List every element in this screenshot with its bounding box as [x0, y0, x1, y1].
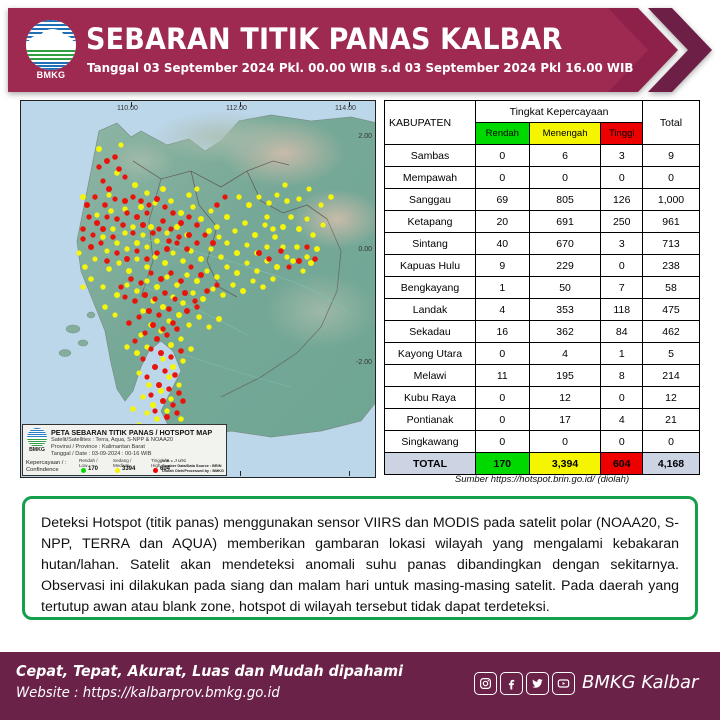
hotspot-points-layer — [21, 101, 376, 478]
cell-total-rendah: 170 — [476, 453, 530, 475]
bmkg-logo-oval-icon — [26, 20, 76, 70]
cell-tinggi: 8 — [601, 365, 643, 387]
page-title: SEBARAN TITIK PANAS KALBAR — [86, 22, 562, 56]
cell-menengah: 17 — [529, 409, 601, 431]
legend-title: PETA SEBARAN TITIK PANAS / HOTSPOT MAP — [51, 428, 212, 437]
cell-kabupaten: Kubu Raya — [385, 387, 476, 409]
legend-logo-sky — [27, 428, 47, 437]
cell-rendah: 9 — [476, 255, 530, 277]
table-header-row-1: KABUPATEN Tingkat Kepercayaan Total — [385, 101, 700, 123]
cell-tinggi: 3 — [601, 233, 643, 255]
cell-total: 462 — [643, 321, 700, 343]
legend-dot-low-icon — [81, 468, 86, 473]
table-row[interactable]: Sekadau 16 362 84 462 — [385, 321, 700, 343]
cell-kabupaten: Sekadau — [385, 321, 476, 343]
description-box: Deteksi Hotspot (titik panas) menggunaka… — [22, 496, 698, 620]
hotspot-points-high — [80, 154, 318, 420]
cell-kabupaten: Ketapang — [385, 211, 476, 233]
table-row[interactable]: Kubu Raya 0 12 0 12 — [385, 387, 700, 409]
description-text: Deteksi Hotspot (titik panas) menggunaka… — [25, 499, 695, 618]
table-row[interactable]: Bengkayang 1 50 7 58 — [385, 277, 700, 299]
table-row[interactable]: Pontianak 0 17 4 21 — [385, 409, 700, 431]
cell-tinggi: 0 — [601, 167, 643, 189]
col-header-total: Total — [643, 101, 700, 145]
cell-total: 9 — [643, 145, 700, 167]
cell-kabupaten: Bengkayang — [385, 277, 476, 299]
cell-menengah: 0 — [529, 167, 601, 189]
legend-dot-high-icon — [153, 468, 158, 473]
cell-tinggi: 118 — [601, 299, 643, 321]
hotspot-table: KABUPATEN Tingkat Kepercayaan Total Rend… — [384, 100, 700, 475]
table-row[interactable]: Sintang 40 670 3 713 — [385, 233, 700, 255]
cell-menengah: 362 — [529, 321, 601, 343]
legend-value-low: 170 — [88, 466, 98, 472]
table-row[interactable]: Kayong Utara 0 4 1 5 — [385, 343, 700, 365]
instagram-icon[interactable] — [474, 672, 497, 695]
legend-value-medium: 3394 — [122, 466, 135, 472]
table-row[interactable]: Mempawah 0 0 0 0 — [385, 167, 700, 189]
cell-menengah: 0 — [529, 431, 601, 453]
cell-rendah: 20 — [476, 211, 530, 233]
logo-cloud-icon — [29, 33, 73, 50]
col-header-confidence-group: Tingkat Kepercayaan — [476, 101, 643, 123]
cell-total: 475 — [643, 299, 700, 321]
cell-rendah: 0 — [476, 387, 530, 409]
cell-tinggi: 4 — [601, 409, 643, 431]
cell-rendah: 0 — [476, 409, 530, 431]
table-source-note: Sumber https://hotspot.brin.go.id/ (diol… — [384, 474, 700, 485]
cell-total: 12 — [643, 387, 700, 409]
bmkg-logo-label: BMKG — [22, 70, 80, 80]
cell-kabupaten: Kapuas Hulu — [385, 255, 476, 277]
cell-total-tinggi: 604 — [601, 453, 643, 475]
hotspot-table-container: KABUPATEN Tingkat Kepercayaan Total Rend… — [384, 100, 700, 475]
cell-menengah: 12 — [529, 387, 601, 409]
col-header-menengah: Menengah — [529, 123, 601, 145]
cell-rendah: 0 — [476, 431, 530, 453]
cell-total: 58 — [643, 277, 700, 299]
cell-kabupaten: Sanggau — [385, 189, 476, 211]
cell-kabupaten: Sintang — [385, 233, 476, 255]
table-row[interactable]: Sanggau 69 805 126 1,000 — [385, 189, 700, 211]
facebook-icon[interactable] — [500, 672, 523, 695]
col-header-rendah: Rendah — [476, 123, 530, 145]
cell-total-label: TOTAL — [385, 453, 476, 475]
cell-menengah: 691 — [529, 211, 601, 233]
cell-menengah: 805 — [529, 189, 601, 211]
table-row[interactable]: Melawi 11 195 8 214 — [385, 365, 700, 387]
cell-menengah: 229 — [529, 255, 601, 277]
cell-rendah: 11 — [476, 365, 530, 387]
footer-social-links — [474, 672, 575, 695]
cell-tinggi: 0 — [601, 255, 643, 277]
cell-total-grand: 4,168 — [643, 453, 700, 475]
table-body: Sambas 0 6 3 9 Mempawah 0 0 0 0 Sanggau … — [385, 145, 700, 475]
table-row[interactable]: Kapuas Hulu 9 229 0 238 — [385, 255, 700, 277]
cell-tinggi: 7 — [601, 277, 643, 299]
cell-total: 5 — [643, 343, 700, 365]
cell-rendah: 4 — [476, 299, 530, 321]
legend-source-notes: WIB = -7 UTC Sumber Data/Data Source : B… — [162, 459, 224, 474]
table-total-row: TOTAL 170 3,394 604 4,168 — [385, 453, 700, 475]
legend-confidence-label-id: Kepercayaan / : — [26, 460, 67, 466]
cell-menengah: 353 — [529, 299, 601, 321]
cell-tinggi: 0 — [601, 431, 643, 453]
cell-kabupaten: Singkawang — [385, 431, 476, 453]
legend-province: Provinsi / Province : Kalimantan Barat — [51, 444, 145, 450]
footer-tagline: Cepat, Tepat, Akurat, Luas dan Mudah dip… — [16, 662, 403, 680]
cell-tinggi: 3 — [601, 145, 643, 167]
cell-tinggi: 126 — [601, 189, 643, 211]
cell-total: 21 — [643, 409, 700, 431]
bmkg-logo: BMKG — [22, 20, 80, 82]
legend-logo-label: BMKG — [26, 447, 48, 453]
cell-total: 713 — [643, 233, 700, 255]
legend-date: Tanggal / Date : 03-09-2024 : 00-16 WIB — [51, 451, 151, 457]
cell-total: 0 — [643, 167, 700, 189]
logo-sea-stripes — [26, 62, 76, 70]
cell-rendah: 0 — [476, 343, 530, 365]
legend-confidence-label-en: Confindence — [26, 467, 59, 473]
legend-logo-land — [27, 439, 47, 447]
cell-menengah: 4 — [529, 343, 601, 365]
cell-menengah: 6 — [529, 145, 601, 167]
footer-brand: BMKG Kalbar — [582, 672, 698, 693]
cell-total: 0 — [643, 431, 700, 453]
col-header-kabupaten: KABUPATEN — [385, 101, 476, 145]
cell-total: 1,000 — [643, 189, 700, 211]
cell-menengah: 195 — [529, 365, 601, 387]
cell-kabupaten: Landak — [385, 299, 476, 321]
footer-website: Website : https://kalbarprov.bmkg.go.id — [16, 685, 280, 701]
cell-kabupaten: Mempawah — [385, 167, 476, 189]
map-legend: BMKG PETA SEBARAN TITIK PANAS / HOTSPOT … — [22, 424, 227, 476]
cell-tinggi: 0 — [601, 387, 643, 409]
cell-tinggi: 1 — [601, 343, 643, 365]
legend-logo-oval-icon — [27, 428, 47, 447]
cell-total: 238 — [643, 255, 700, 277]
page-subtitle-daterange: Tanggal 03 September 2024 Pkl. 00.00 WIB… — [87, 60, 633, 75]
cell-kabupaten: Pontianak — [385, 409, 476, 431]
cell-rendah: 0 — [476, 145, 530, 167]
cell-kabupaten: Kayong Utara — [385, 343, 476, 365]
cell-menengah: 670 — [529, 233, 601, 255]
cell-tinggi: 250 — [601, 211, 643, 233]
table-row[interactable]: Landak 4 353 118 475 — [385, 299, 700, 321]
cell-rendah: 40 — [476, 233, 530, 255]
table-row[interactable]: Ketapang 20 691 250 961 — [385, 211, 700, 233]
cell-kabupaten: Sambas — [385, 145, 476, 167]
legend-satellites: Satelit/Satellites : Terra, Aqua, S-NPP … — [51, 437, 173, 443]
cell-rendah: 16 — [476, 321, 530, 343]
cell-tinggi: 84 — [601, 321, 643, 343]
cell-total: 214 — [643, 365, 700, 387]
cell-total-menengah: 3,394 — [529, 453, 601, 475]
cell-kabupaten: Melawi — [385, 365, 476, 387]
legend-bmkg-logo: BMKG — [26, 428, 48, 454]
table-row[interactable]: Sambas 0 6 3 9 — [385, 145, 700, 167]
youtube-icon[interactable] — [552, 672, 575, 695]
page-header: BMKG SEBARAN TITIK PANAS KALBAR Tanggal … — [8, 8, 712, 92]
twitter-icon[interactable] — [526, 672, 549, 695]
cell-rendah: 1 — [476, 277, 530, 299]
cell-total: 961 — [643, 211, 700, 233]
cell-rendah: 69 — [476, 189, 530, 211]
cell-rendah: 0 — [476, 167, 530, 189]
cell-menengah: 50 — [529, 277, 601, 299]
legend-dot-medium-icon — [115, 468, 120, 473]
table-row[interactable]: Singkawang 0 0 0 0 — [385, 431, 700, 453]
hotspot-map[interactable]: 110.00 112.00 114.00 2.00 0.00 -2.00 — [20, 100, 376, 478]
infographic-page: BMKG SEBARAN TITIK PANAS KALBAR Tanggal … — [0, 0, 720, 720]
col-header-tinggi: Tinggi — [601, 123, 643, 145]
